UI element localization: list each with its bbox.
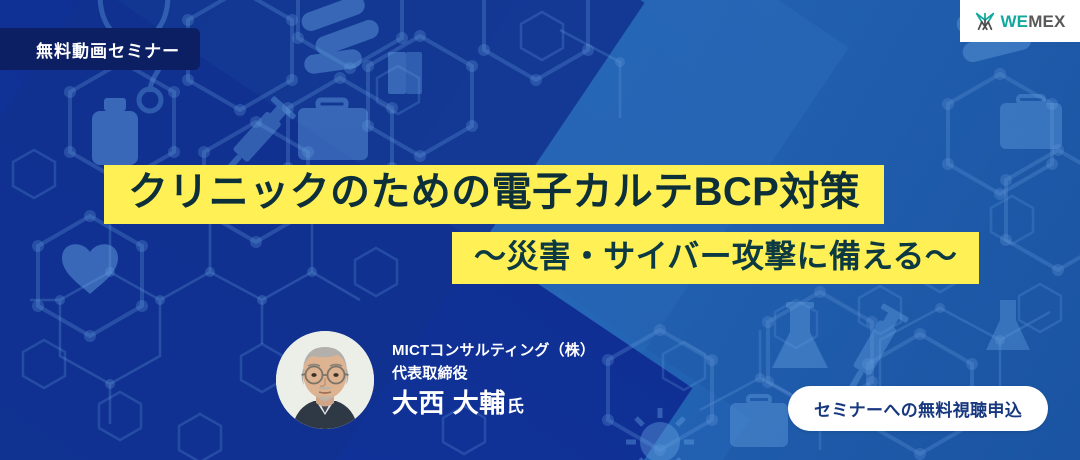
medical-briefcase-icon	[730, 396, 788, 447]
subtitle-highlight-band: 〜災害・サイバー攻撃に備える〜	[452, 232, 979, 284]
speaker-name-row: 大西 大輔 氏	[392, 389, 595, 418]
book-icon	[388, 52, 422, 94]
medical-briefcase-icon	[1000, 96, 1062, 149]
speaker-portrait	[276, 331, 374, 429]
seminar-apply-button-label: セミナーへの無料視聴申込	[814, 396, 1022, 421]
badge-label: 無料動画セミナー	[36, 37, 180, 62]
wemex-logo-text: WEMEX	[1000, 13, 1065, 30]
logo-text-we: WE	[1000, 12, 1028, 31]
logo-text-mex: MEX	[1028, 12, 1065, 31]
speaker-name-suffix: 氏	[507, 392, 524, 417]
speaker-organization: MICTコンサルティング（株）	[392, 340, 595, 363]
free-video-seminar-badge: 無料動画セミナー	[0, 28, 200, 70]
wemex-w-mark-icon	[974, 10, 996, 32]
speaker-info: MICTコンサルティング（株） 代表取締役 大西 大輔 氏	[392, 340, 595, 418]
seminar-banner: 無料動画セミナー	[0, 0, 1080, 460]
heart-icon	[62, 244, 118, 294]
flask-icon	[986, 300, 1030, 350]
medical-briefcase-icon	[298, 100, 368, 160]
wemex-logo[interactable]: WEMEX	[960, 0, 1080, 42]
page-title: クリニックのための電子カルテBCP対策	[128, 169, 860, 216]
speaker-name: 大西 大輔	[392, 389, 506, 418]
title-highlight-band: クリニックのための電子カルテBCP対策	[104, 165, 884, 224]
flask-icon	[772, 302, 828, 368]
speaker-role: 代表取締役	[392, 363, 595, 386]
page-subtitle: 〜災害・サイバー攻撃に備える〜	[474, 237, 957, 275]
medicine-bottle-icon	[92, 98, 138, 165]
seminar-apply-button[interactable]: セミナーへの無料視聴申込	[788, 386, 1048, 431]
